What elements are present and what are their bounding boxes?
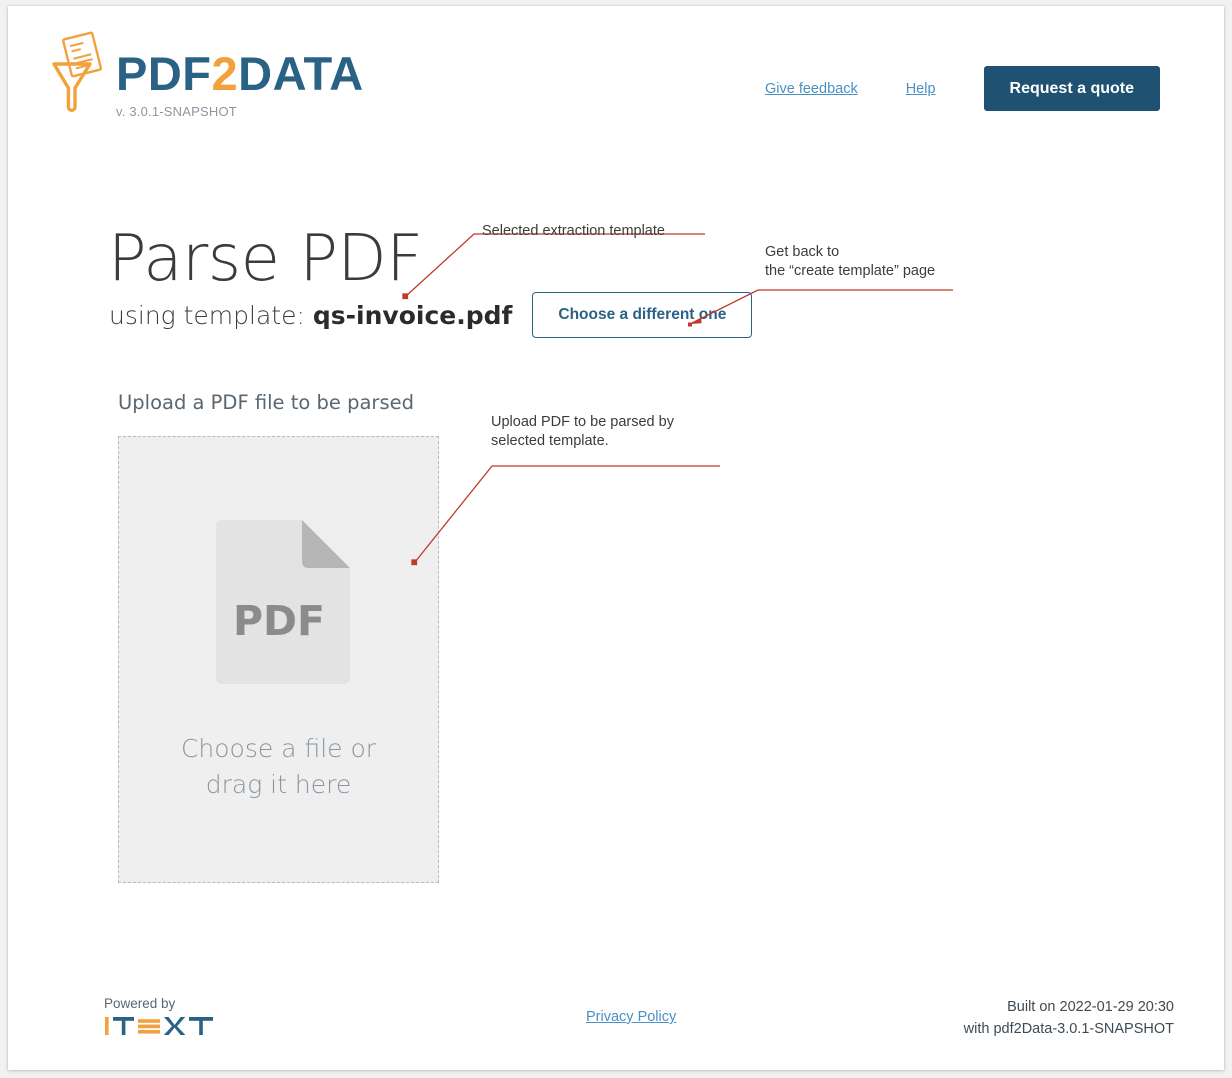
header-nav: Give feedback Help Request a quote xyxy=(765,66,1160,111)
privacy-policy-link[interactable]: Privacy Policy xyxy=(586,1009,676,1025)
wordmark-pdf: PDF xyxy=(116,47,212,100)
brand-wordmark: PDF2DATA xyxy=(116,50,364,97)
wordmark-data: DATA xyxy=(238,47,364,100)
funnel-document-icon xyxy=(50,30,110,114)
footer-center: Privacy Policy xyxy=(586,1008,676,1026)
app-version: v. 3.0.1-SNAPSHOT xyxy=(116,104,364,119)
drop-zone-instructions: Choose a file or drag it here xyxy=(181,731,376,802)
drop-zone-line-2: drag it here xyxy=(181,767,376,803)
using-template-label: using template: xyxy=(109,301,305,330)
page-header: PDF2DATA v. 3.0.1-SNAPSHOT Give feedback… xyxy=(8,6,1224,156)
itext-logo xyxy=(104,1015,216,1037)
built-on-text: Built on 2022-01-29 20:30 xyxy=(964,997,1174,1019)
drop-zone-line-1: Choose a file or xyxy=(181,731,376,767)
upload-section-heading: Upload a PDF file to be parsed xyxy=(118,391,414,414)
pdf-icon-label: PDF xyxy=(232,597,324,645)
powered-by-label: Powered by xyxy=(104,996,216,1011)
built-with-text: with pdf2Data-3.0.1-SNAPSHOT xyxy=(964,1019,1174,1041)
selected-template-row: using template: qs-invoice.pdf Choose a … xyxy=(109,292,752,338)
pdf-file-icon: PDF xyxy=(208,517,350,687)
footer-branding: Powered by xyxy=(104,996,216,1037)
page-title: Parse PDF xyxy=(108,227,423,291)
wordmark-2: 2 xyxy=(212,47,239,100)
annotation-upload-pdf-leader xyxy=(412,466,720,565)
page-footer: Powered by Privacy Policy xyxy=(8,986,1224,1070)
file-drop-zone[interactable]: PDF Choose a file or drag it here xyxy=(118,436,439,883)
annotation-selected-template-leader xyxy=(403,234,705,299)
annotation-upload-pdf-text: Upload PDF to be parsed by selected temp… xyxy=(491,413,674,452)
annotation-selected-template-text: Selected extraction template xyxy=(482,222,665,241)
help-link[interactable]: Help xyxy=(906,81,936,97)
brand-text: PDF2DATA v. 3.0.1-SNAPSHOT xyxy=(116,28,364,119)
choose-a-different-one-button[interactable]: Choose a different one xyxy=(532,292,752,338)
selected-template-name: qs-invoice.pdf xyxy=(313,301,513,330)
brand-logo[interactable]: PDF2DATA v. 3.0.1-SNAPSHOT xyxy=(50,28,364,119)
annotation-get-back-text: Get back to the “create template” page xyxy=(765,243,935,282)
app-page: PDF2DATA v. 3.0.1-SNAPSHOT Give feedback… xyxy=(8,6,1224,1070)
request-a-quote-button[interactable]: Request a quote xyxy=(984,66,1160,111)
footer-build-info: Built on 2022-01-29 20:30 with pdf2Data-… xyxy=(964,997,1174,1041)
give-feedback-link[interactable]: Give feedback xyxy=(765,81,858,97)
